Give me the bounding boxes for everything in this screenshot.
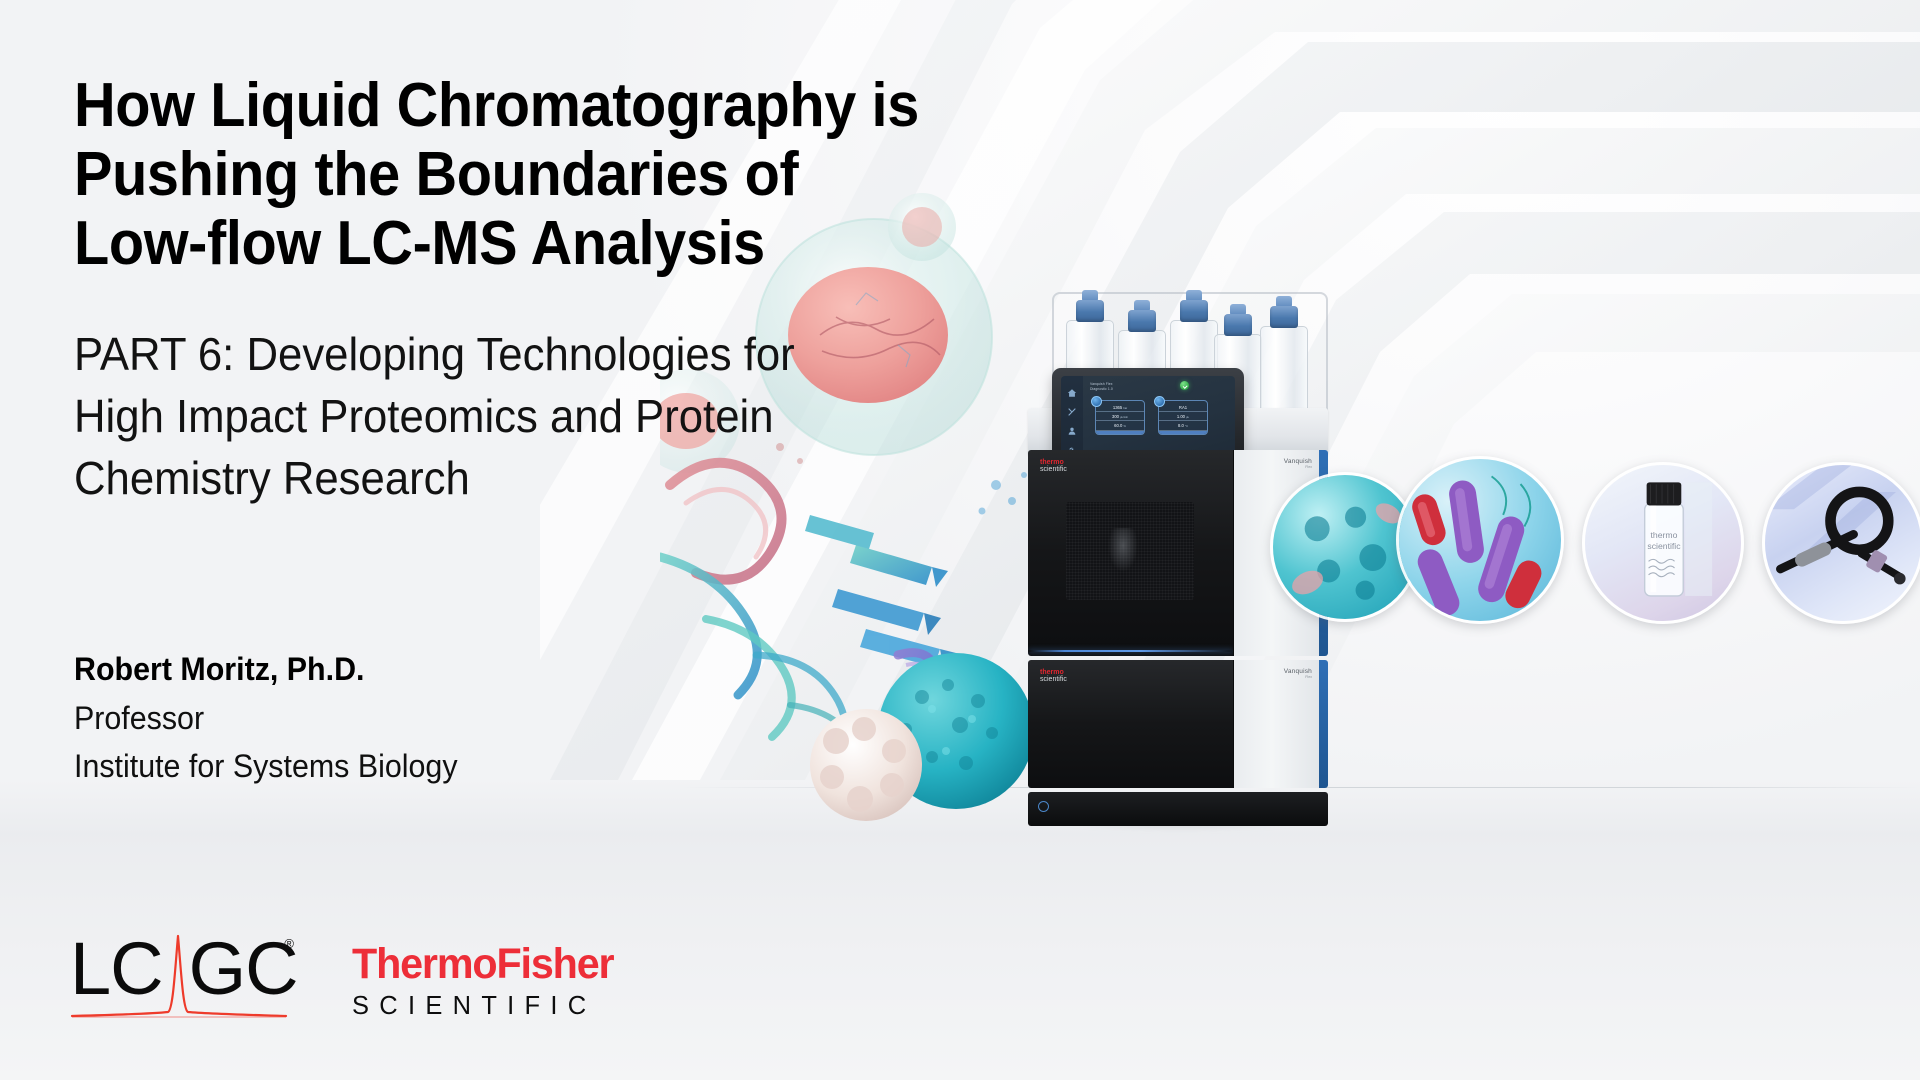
svg-text:thermo: thermo	[1650, 530, 1677, 540]
page-subtitle: PART 6: Developing Technologies for High…	[74, 324, 1024, 509]
sampler-vial-value: RA1	[1159, 403, 1207, 412]
instrument-module-lower: thermo scientific Vanquish Flex	[1028, 660, 1328, 788]
presenter-block: Robert Moritz, Ph.D. Professor Institute…	[74, 645, 478, 791]
green-check-icon	[1180, 381, 1189, 390]
module-lower-light-panel: Vanquish Flex	[1233, 660, 1328, 788]
bacteria-circle	[1396, 456, 1564, 624]
thermofisher-brand-text: ThermoFisher	[352, 942, 613, 987]
sampler-volume-value: 1.00 µL	[1159, 412, 1207, 421]
module-upper-model-label: Vanquish Flex	[1284, 459, 1312, 470]
module-upper-accent-light	[1028, 650, 1233, 652]
slide-canvas: Vanquish Flex Diagnostic 1.0 1365 bar 30…	[0, 0, 1920, 1080]
thermofisher-tagline-text: SCIENTIFIC	[352, 992, 619, 1018]
sampler-card-bar	[1159, 431, 1207, 434]
thermo-fisher-logo: ThermoFisher SCIENTIFIC	[352, 942, 624, 1022]
sampler-status-card[interactable]: RA1 1.00 µL 8.0 °C	[1158, 400, 1208, 435]
sampler-temp-value: 8.0 °C	[1159, 421, 1207, 430]
sample-vial-circle: thermo scientific	[1582, 462, 1744, 624]
module-lower-dark-panel: thermo scientific	[1028, 660, 1233, 788]
module-vent-grille	[1066, 502, 1194, 600]
instrument-base	[1028, 792, 1328, 826]
chromatogram-peak-icon	[70, 930, 290, 1022]
lcgc-logo: LC GC ®	[70, 930, 290, 1022]
module-lower-model-label: Vanquish Flex	[1284, 669, 1312, 680]
logo-row: LC GC ® ThermoFisher SCIENTIFIC	[70, 930, 624, 1022]
lc-column-fitting-circle	[1762, 462, 1920, 624]
svg-text:scientific: scientific	[1647, 541, 1681, 551]
solvent-bottle	[1260, 326, 1308, 416]
text-column: How Liquid Chromatography is Pushing the…	[74, 72, 1134, 509]
presenter-organization: Institute for Systems Biology	[74, 742, 458, 791]
presenter-name: Robert Moritz, Ph.D.	[74, 645, 458, 694]
sampler-indicator-icon	[1154, 396, 1165, 407]
presenter-role: Professor	[74, 694, 458, 743]
page-title: How Liquid Chromatography is Pushing the…	[74, 72, 1060, 278]
thermo-scientific-mark-lower: thermo scientific	[1040, 669, 1067, 683]
power-button-icon[interactable]	[1038, 801, 1049, 812]
